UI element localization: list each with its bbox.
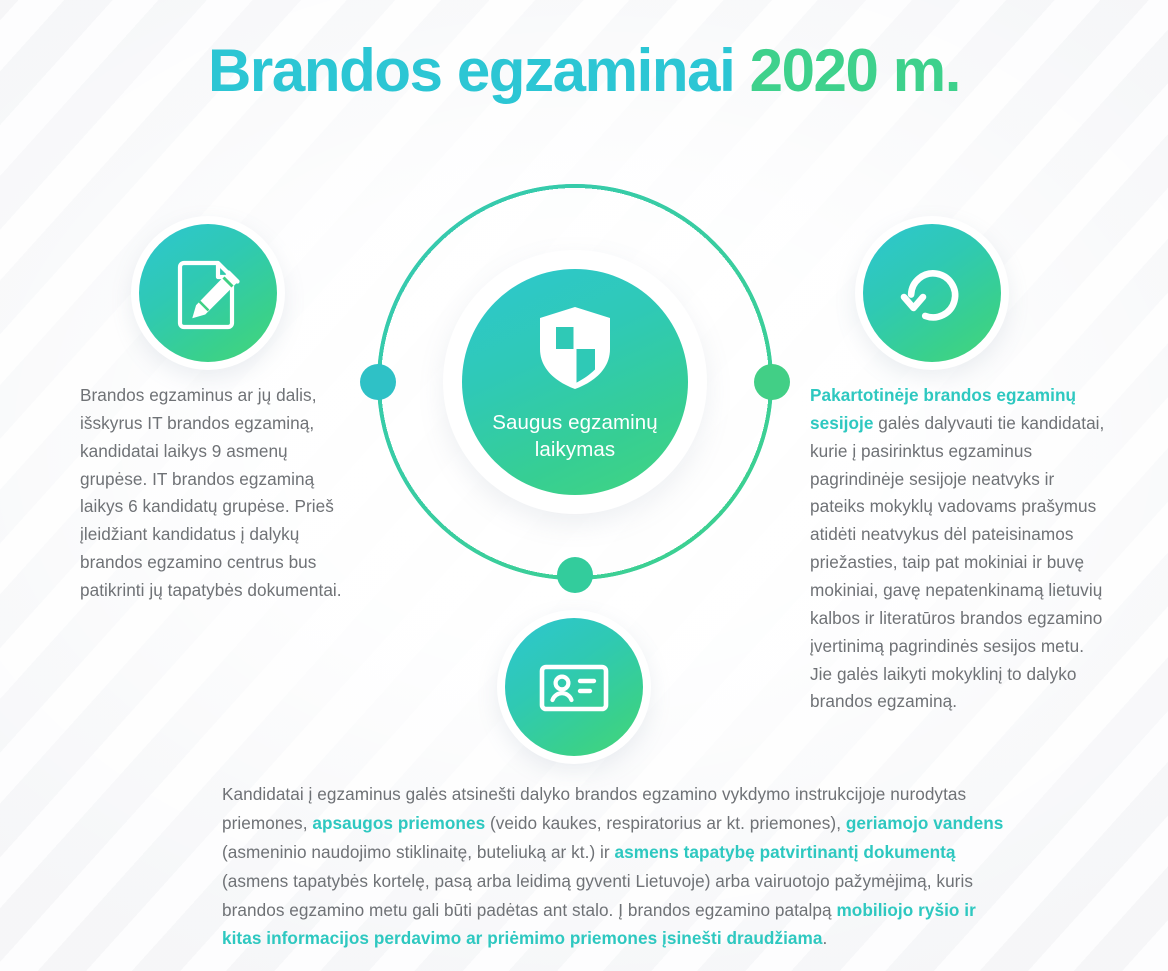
paragraph-bottom-seg3: (asmeninio naudojimo stiklinaitę, buteli… [222, 842, 615, 862]
paragraph-bottom-hl3: asmens tapatybę patvirtinantį dokumentą [615, 842, 956, 862]
node-bottom [505, 618, 643, 756]
paragraph-right-body: galės dalyvauti tie kandidatai, kurie į … [810, 413, 1104, 712]
center-hub-label: Saugus egzaminų laikymas [492, 409, 658, 463]
shield-icon [536, 305, 614, 391]
paragraph-right: Pakartotinėje brandos egzaminų sesijoje … [810, 382, 1110, 716]
node-right [863, 224, 1001, 362]
paragraph-bottom-hl2: geriamojo vandens [846, 813, 1004, 833]
document-pencil-icon [162, 247, 254, 339]
paragraph-left-body: Brandos egzaminus ar jų dalis, išskyrus … [80, 385, 342, 600]
page-title: Brandos egzaminai 2020 m. [0, 36, 1168, 105]
connector-dot-bottom [557, 557, 593, 593]
id-card-icon [528, 641, 620, 733]
paragraph-bottom-seg2: (veido kaukes, respiratorius ar kt. prie… [485, 813, 846, 833]
title-accent: 2020 m. [750, 37, 960, 104]
repeat-arrow-icon [886, 247, 978, 339]
title-primary: Brandos egzaminai [208, 37, 750, 104]
paragraph-bottom-hl1: apsaugos priemones [312, 813, 485, 833]
paragraph-bottom: Kandidatai į egzaminus galės atsinešti d… [222, 780, 1012, 953]
node-left [139, 224, 277, 362]
paragraph-bottom-seg5: . [822, 928, 827, 948]
paragraph-left: Brandos egzaminus ar jų dalis, išskyrus … [80, 382, 352, 605]
connector-dot-right [754, 364, 790, 400]
infographic-page: Brandos egzaminai 2020 m. Saugus egzamin… [0, 0, 1168, 971]
center-hub: Saugus egzaminų laikymas [462, 269, 688, 495]
connector-dot-left [360, 364, 396, 400]
